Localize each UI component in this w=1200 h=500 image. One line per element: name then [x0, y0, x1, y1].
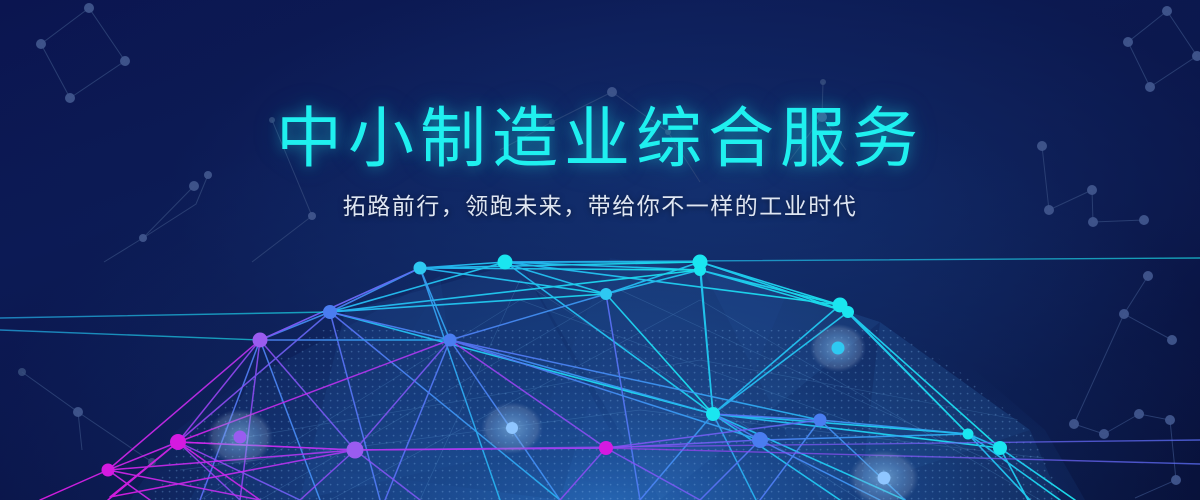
node-halos [207, 324, 919, 500]
network-dome-graphic [0, 0, 1200, 500]
hero-banner: .cl{stroke:#2f4478;stroke-width:1;fill:n… [0, 0, 1200, 500]
dome-edges [0, 258, 1200, 500]
